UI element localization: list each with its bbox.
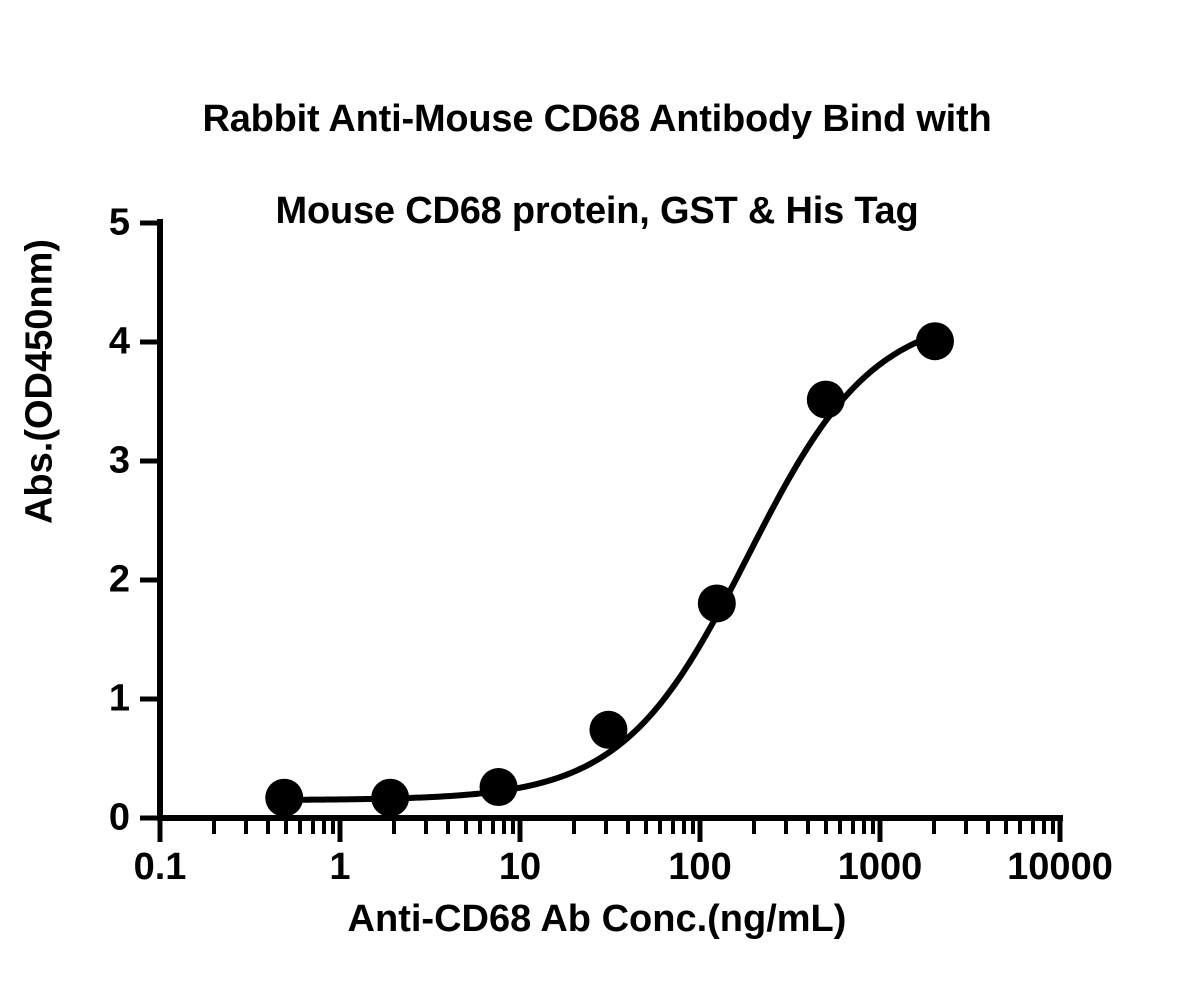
y-axis-title: Abs.(OD450nm) [19,162,62,602]
data-point [916,322,954,360]
data-point [480,768,518,806]
x-axis-ticks [160,818,1060,842]
x-tick-label-10: 10 [499,846,541,889]
x-tick-label-0.1: 0.1 [134,846,187,889]
y-tick-label-1: 1 [100,678,130,721]
x-tick-label-1: 1 [329,846,350,889]
y-tick-label-2: 2 [100,559,130,602]
x-tick-label-1000: 1000 [838,846,923,889]
y-tick-label-4: 4 [100,321,130,364]
data-point [698,584,736,622]
data-point [807,381,845,419]
data-point [371,779,409,817]
data-point [265,779,303,817]
data-point-group [265,322,954,817]
data-point [589,711,627,749]
x-tick-label-100: 100 [668,846,731,889]
x-axis-title: Anti-CD68 Ab Conc.(ng/mL) [0,898,1194,941]
y-tick-label-5: 5 [100,202,130,245]
x-tick-label-10000: 10000 [1007,846,1113,889]
y-tick-label-3: 3 [100,440,130,483]
y-tick-label-0: 0 [100,797,130,840]
chart-figure: Rabbit Anti-Mouse CD68 Antibody Bind wit… [0,0,1194,1005]
